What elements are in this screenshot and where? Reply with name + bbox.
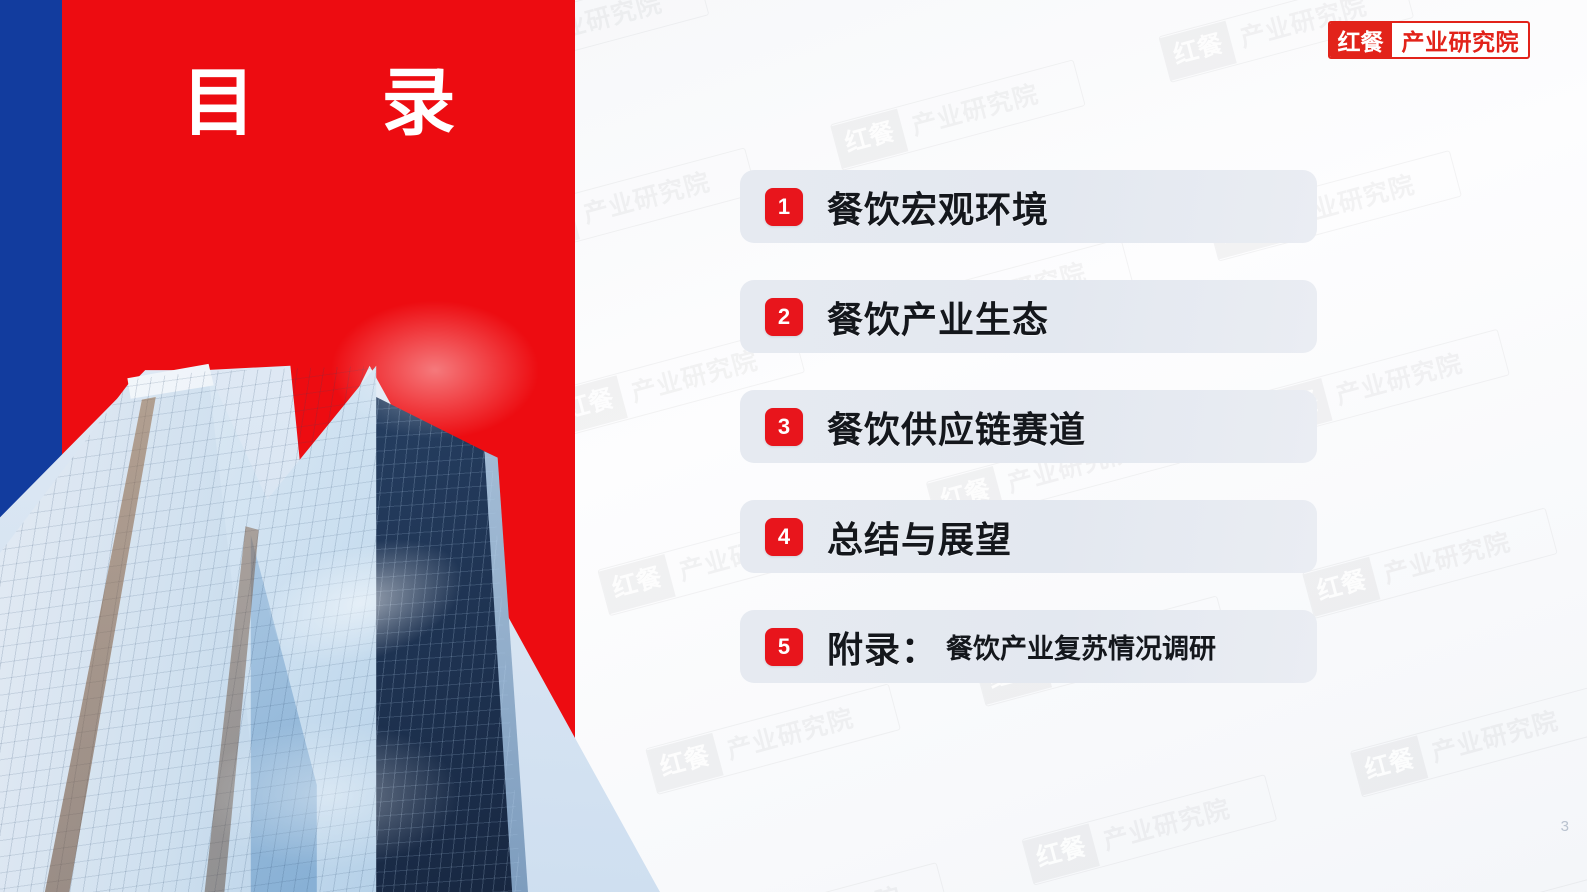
toc-item-label: 餐饮宏观环境	[827, 181, 1049, 233]
brand-logo-mark: 红餐	[1330, 23, 1392, 57]
brand-logo-name: 产业研究院	[1392, 23, 1529, 57]
toc-item[interactable]: 3餐饮供应链赛道	[740, 390, 1317, 463]
toc-item-number-badge: 4	[765, 518, 803, 556]
cloud-reflection-3	[330, 300, 540, 440]
page-title: 目 录	[62, 62, 575, 143]
toc-item-label: 餐饮产业生态	[827, 291, 1049, 343]
cloud-reflection-2	[200, 720, 460, 870]
toc-item[interactable]: 4总结与展望	[740, 500, 1317, 573]
table-of-contents: 1餐饮宏观环境2餐饮产业生态3餐饮供应链赛道4总结与展望5附录：餐饮产业复苏情况…	[740, 170, 1317, 683]
toc-item-sublabel: 餐饮产业复苏情况调研	[946, 627, 1216, 666]
brand-logo: 红餐 产业研究院	[1328, 21, 1531, 59]
toc-item[interactable]: 5附录：餐饮产业复苏情况调研	[740, 610, 1317, 683]
toc-item-label: 附录：	[827, 621, 938, 673]
page-number: 3	[1561, 818, 1569, 835]
toc-item-number-badge: 5	[765, 628, 803, 666]
toc-item-number-badge: 3	[765, 408, 803, 446]
toc-item[interactable]: 2餐饮产业生态	[740, 280, 1317, 353]
slide-root: 红餐产业研究院红餐产业研究院红餐产业研究院红餐产业研究院红餐产业研究院红餐产业研…	[0, 0, 1587, 892]
toc-item-label: 餐饮供应链赛道	[827, 401, 1086, 453]
decorative-arc-top	[1441, 0, 1587, 634]
toc-item-label: 总结与展望	[827, 511, 1012, 563]
toc-item-number-badge: 2	[765, 298, 803, 336]
toc-item[interactable]: 1餐饮宏观环境	[740, 170, 1317, 243]
left-cover-panel: 目 录	[0, 0, 660, 892]
toc-item-number-badge: 1	[765, 188, 803, 226]
